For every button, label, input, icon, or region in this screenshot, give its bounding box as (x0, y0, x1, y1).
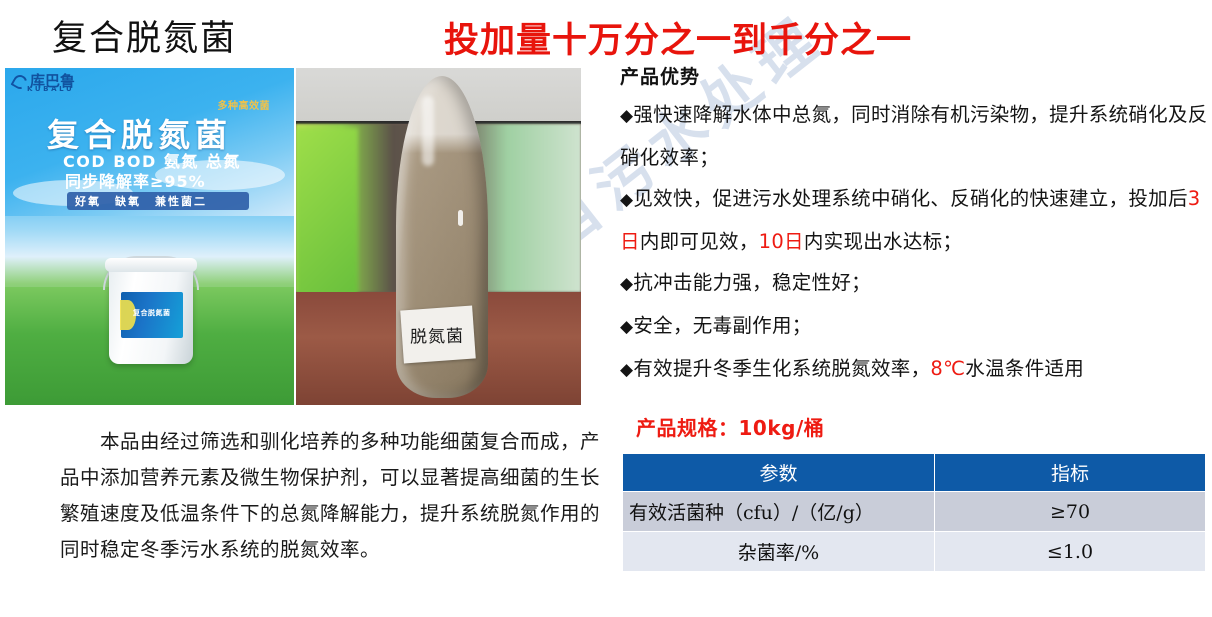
bottle-handwritten-label: 脱氮菌 (400, 306, 476, 364)
bucket-lid (105, 258, 197, 272)
table-cell-0-0: 有效活菌种（cfu）/（亿/g） (623, 492, 935, 532)
slide-root: 西日工自污水处理 复合脱氮菌 投加量十万分之一到千分之一 库巴鲁 KUBALU … (0, 0, 1212, 617)
product-package-image: 库巴鲁 KUBALU 多种高效菌 复合脱氮菌 COD BOD 氨氮 总氮 同步降… (5, 68, 294, 405)
advantage-text-4-0: 有效提升冬季生化系统脱氮效率， (633, 357, 930, 380)
advantage-text-2-0: 抗冲击能力强，稳定性好； (633, 271, 871, 294)
table-header-row: 参数 指标 (623, 454, 1206, 492)
diamond-bullet-icon: ◆ (620, 317, 633, 337)
diamond-bullet-icon: ◆ (620, 190, 633, 210)
advantage-text-4-2: 水温条件适用 (965, 357, 1084, 380)
advantage-item-0: ◆强快速降解水体中总氮，同时消除有机污染物，提升系统硝化及反硝化效率； (620, 94, 1210, 178)
banner-strip-text: 好氧 缺氧 兼性菌二 (75, 193, 207, 209)
photo-green-vest (296, 128, 358, 298)
spec-label: 产品规格：10kg/桶 (636, 412, 824, 441)
bottle-highlight-dot (458, 210, 463, 226)
strip-item-2: 兼性菌二 (155, 193, 207, 209)
table-row: 杂菌率/%≤1.0 (623, 532, 1206, 572)
banner-subline-2: 同步降解率≥95% (65, 168, 206, 192)
table-header-param: 参数 (623, 454, 935, 492)
strip-item-0: 好氧 (75, 193, 101, 209)
table-cell-1-0: 杂菌率/% (623, 532, 935, 572)
diamond-bullet-icon: ◆ (620, 106, 633, 126)
package-banner: 库巴鲁 KUBALU 多种高效菌 复合脱氮菌 COD BOD 氨氮 总氮 同步降… (5, 68, 294, 216)
strip-item-1: 缺氧 (115, 193, 141, 209)
advantage-text-0-0: 强快速降解水体中总氮，同时消除有机污染物，提升系统硝化及反硝化效率； (620, 103, 1208, 169)
advantages-heading: 产品优势 (620, 62, 700, 89)
bottle-photo: 脱氮菌 (296, 68, 581, 405)
diamond-bullet-icon: ◆ (620, 360, 633, 380)
dosage-title: 投加量十万分之一到千分之一 (444, 12, 912, 63)
table-cell-0-1: ≥70 (935, 492, 1206, 532)
bottle-label-text: 脱氮菌 (410, 322, 464, 348)
advantage-item-4: ◆有效提升冬季生化系统脱氮效率，8℃水温条件适用 (620, 348, 1210, 391)
advantage-item-3: ◆安全，无毒副作用； (620, 305, 1210, 348)
bucket-label-text: 复合脱氮菌 (133, 308, 171, 318)
advantage-text-1-0: 见效快，促进污水处理系统中硝化、反硝化的快速建立，投加后 (633, 187, 1187, 210)
product-description: 本品由经过筛选和驯化培养的多种功能细菌复合而成，产品中添加营养元素及微生物保护剂… (60, 424, 600, 568)
advantage-text-4-1: 8℃ (930, 357, 965, 380)
advantage-text-1-3: 10日 (759, 230, 804, 253)
advantages-list: ◆强快速降解水体中总氮，同时消除有机污染物，提升系统硝化及反硝化效率；◆见效快，… (620, 94, 1210, 391)
advantage-text-1-4: 内实现出水达标； (804, 230, 962, 253)
diamond-bullet-icon: ◆ (620, 274, 633, 294)
bucket-label: 复合脱氮菌 (121, 292, 183, 338)
table-row: 有效活菌种（cfu）/（亿/g）≥70 (623, 492, 1206, 532)
product-bucket: 复合脱氮菌 (103, 250, 199, 368)
advantage-item-1: ◆见效快，促进污水处理系统中硝化、反硝化的快速建立，投加后3日内即可见效，10日… (620, 178, 1210, 262)
advantage-text-1-2: 内即可见效， (640, 230, 759, 253)
advantage-text-3-0: 安全，无毒副作用； (633, 314, 811, 337)
bottle-highlight (422, 96, 434, 166)
spec-table: 参数 指标 有效活菌种（cfu）/（亿/g）≥70杂菌率/%≤1.0 (622, 453, 1206, 572)
logo-text-en: KUBALU (27, 85, 74, 93)
page-title: 复合脱氮菌 (52, 10, 237, 61)
spec-table-body: 有效活菌种（cfu）/（亿/g）≥70杂菌率/%≤1.0 (623, 492, 1206, 572)
table-header-index: 指标 (935, 454, 1206, 492)
table-cell-1-1: ≤1.0 (935, 532, 1206, 572)
advantage-item-2: ◆抗冲击能力强，稳定性好； (620, 262, 1210, 305)
